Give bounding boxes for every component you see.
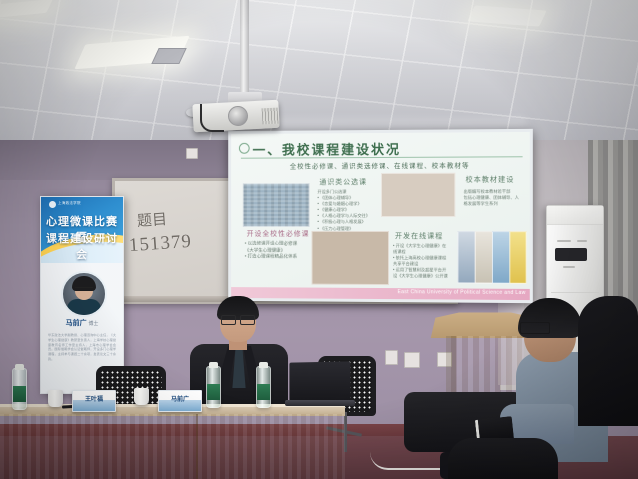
slide-footer-band: East China University of Political Scien… bbox=[231, 287, 530, 300]
slide-section-heading: 通识类公选课 bbox=[319, 177, 367, 187]
slide-photo-illustration bbox=[381, 173, 455, 217]
bottle-cap bbox=[209, 362, 218, 368]
audience-member-background bbox=[578, 296, 638, 426]
slide-section-body: • 开设《大学生心理健康》在线课程 • 依托上海高校心理健康课程共享平台建设 •… bbox=[393, 243, 449, 280]
whiteboard-handwriting-number: 151379 bbox=[128, 231, 192, 257]
name-tag: 王叶福 bbox=[72, 390, 116, 412]
slide-section-heading: 开设全校性必修课 bbox=[247, 229, 310, 239]
banner-title-line2: 课程建设研讨会 bbox=[41, 230, 123, 262]
speaker-degree-text: 博士 bbox=[88, 322, 98, 327]
ac-label-right bbox=[577, 240, 587, 242]
ac-label-left bbox=[557, 240, 571, 242]
wall-outlet[interactable] bbox=[186, 148, 198, 159]
table-panel-seam bbox=[196, 414, 198, 479]
ac-top-grille bbox=[547, 206, 603, 225]
bottle-label bbox=[13, 386, 26, 402]
projector-cable bbox=[200, 104, 224, 132]
glasses-icon bbox=[520, 322, 550, 334]
slide-section-body: • 以选修课开设心理必修课 《大学生心理健康》 • 打造心理课程精品化体系 bbox=[245, 241, 316, 261]
bottle-cap bbox=[15, 364, 24, 370]
water-bottle[interactable] bbox=[256, 366, 271, 408]
wall-outlet[interactable] bbox=[404, 352, 420, 368]
bottle-label bbox=[257, 384, 270, 400]
ac-display-panel[interactable] bbox=[555, 248, 587, 261]
ac-seam bbox=[551, 292, 599, 293]
slide-book-cover bbox=[509, 231, 526, 284]
whiteboard-handwriting-top: 题目 bbox=[136, 208, 167, 231]
banner-header: 上海政法学院 心理微课比赛暨 课程建设研讨会 bbox=[41, 197, 123, 263]
presentation-slide: 一、我校课程建设状况 全校性必修课、通识类选修课、在线课程、校本教材等 开设全校… bbox=[231, 132, 530, 300]
projector-vent bbox=[262, 108, 279, 125]
water-bottle[interactable] bbox=[12, 368, 27, 410]
slide-title: 一、我校课程建设状况 bbox=[253, 139, 401, 159]
projector-mount-pole bbox=[240, 0, 249, 96]
glasses-icon bbox=[75, 287, 93, 293]
laptop-screen[interactable] bbox=[289, 361, 350, 402]
slide-subtitle: 全校性必修课、通识类选修课、在线课程、校本教材等 bbox=[290, 160, 470, 171]
bottle-cap bbox=[259, 362, 268, 368]
name-tag-text: 王叶福 bbox=[73, 394, 115, 403]
wall-outlet[interactable] bbox=[385, 350, 398, 365]
speaker-name-text: 马前广 bbox=[66, 319, 87, 327]
slide-section-heading: 校本教材建设 bbox=[466, 175, 515, 185]
bottle-label bbox=[207, 384, 220, 400]
slide-section-body: 出版编写校本教材若干部 包括心理健康、团体辅导、人格发展等学生系列 bbox=[464, 189, 521, 208]
glasses-icon bbox=[221, 315, 255, 323]
lecture-hall-photo: 题目 151379 一、我校课程建设状况 全校性必修课、通识类选修课、在线课程、… bbox=[0, 0, 638, 479]
slide-book-cover bbox=[457, 231, 475, 283]
projection-screen: 一、我校课程建设状况 全校性必修课、通识类选修课、在线课程、校本教材等 开设全校… bbox=[228, 129, 533, 303]
banner-org-name: 上海政法学院 bbox=[58, 201, 81, 206]
speaker-portrait-avatar bbox=[61, 271, 107, 317]
slide-title-underline bbox=[241, 156, 523, 158]
banner-bio-text: 华东政法大学副教授、心理咨询中心主任，《大学生心理健康》教研室负责人，上海学校心… bbox=[48, 333, 116, 362]
slide-book-cover bbox=[475, 231, 493, 284]
name-tag: 马前广 bbox=[158, 390, 202, 412]
slide-book-cover bbox=[492, 231, 510, 284]
ac-label-bottom bbox=[563, 266, 575, 268]
portrait-body bbox=[67, 299, 101, 317]
name-tag-text: 马前广 bbox=[159, 394, 201, 403]
water-bottle[interactable] bbox=[206, 366, 221, 408]
rollup-banner: 上海政法学院 心理微课比赛暨 课程建设研讨会 马前广 博士 华东政法大学副教授、… bbox=[40, 196, 124, 394]
slide-section-body: 开设多门公选课 • 《团体心理辅导》 • 《恋爱与婚姻心理学》 • 《健康心理学… bbox=[317, 189, 379, 232]
university-logo-icon bbox=[49, 201, 56, 208]
laptop-keyboard-base[interactable] bbox=[285, 400, 355, 406]
slide-photo-classroom bbox=[243, 183, 310, 227]
slide-photo-activity bbox=[311, 231, 389, 285]
audience-member-foreground bbox=[448, 438, 558, 479]
conference-table-front-panel bbox=[0, 414, 345, 479]
banner-speaker-name: 马前广 博士 bbox=[41, 318, 123, 328]
slide-number-badge bbox=[239, 143, 250, 154]
slide-section-heading: 开发在线课程 bbox=[395, 231, 443, 241]
paper-cup[interactable] bbox=[48, 390, 63, 407]
slide-footer-text: East China University of Political Scien… bbox=[398, 289, 526, 296]
paper-cup[interactable] bbox=[134, 388, 149, 405]
